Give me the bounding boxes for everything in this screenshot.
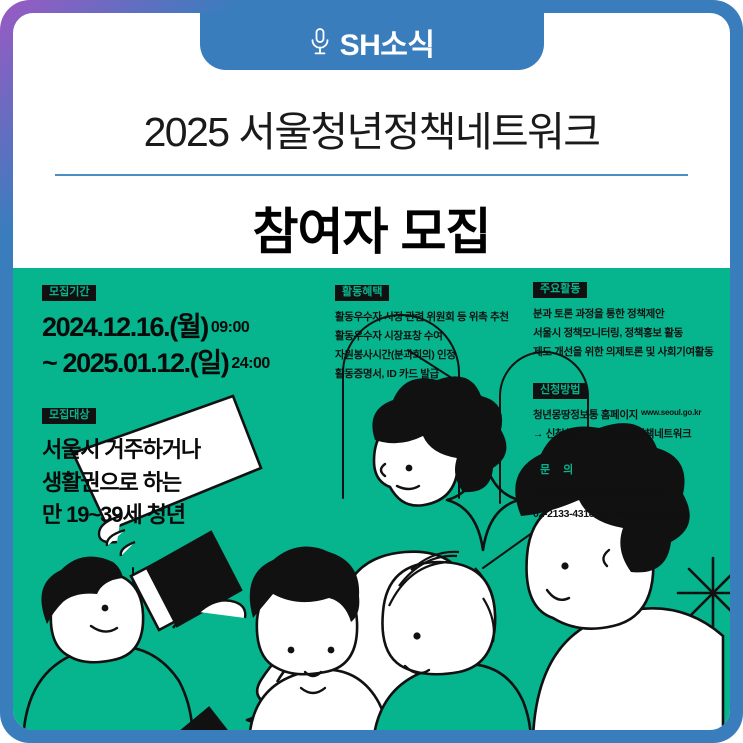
list-item: 자원봉사시간(분과회의) 인정	[335, 346, 525, 365]
apply-path: → 신청하기 → 서울청년정책네트워크	[533, 425, 730, 444]
list-item: 분과 토론 과정을 통한 정책제안	[533, 305, 730, 324]
header-tab: SH소식	[200, 13, 544, 70]
apply-list: 청년몽땅정보통 홈페이지www.seoul.go.kr → 신청하기 → 서울청…	[533, 406, 730, 444]
headline-area: 2025 서울청년정책네트워크 참여자 모집	[13, 70, 730, 268]
recruit-start-date: 2024.12.16.(월)	[42, 312, 208, 342]
microphone-icon	[309, 27, 331, 57]
title-divider	[55, 174, 688, 176]
badge-recruit-period: 모집기간	[42, 285, 96, 301]
content-panel: 모집기간 2024.12.16.(월)09:00 ~ 2025.01.12.(일…	[13, 268, 730, 730]
page-subtitle: 참여자 모집	[253, 192, 491, 264]
benefits-list: 활동우수자 시정 관련 위원회 등 위촉 추천 활동우수자 시장표창 수여 자원…	[335, 308, 525, 384]
recruit-start-line: 2024.12.16.(월)09:00	[42, 310, 342, 346]
target-line: 만 19~39세 청년	[42, 499, 342, 532]
recruit-period-dates: 2024.12.16.(월)09:00 ~ 2025.01.12.(일)24:0…	[42, 310, 342, 381]
tab-title: SH소식	[340, 20, 435, 64]
poster-frame: SH소식 2025 서울청년정책네트워크 참여자 모집	[0, 0, 743, 743]
apply-site-row: 청년몽땅정보통 홈페이지www.seoul.go.kr	[533, 406, 730, 425]
list-item: 서울시 정책모니터링, 정책홍보 활동	[533, 324, 730, 343]
recruit-start-time: 09:00	[211, 319, 249, 336]
contact-phone-email: 02-2133-4318 estella@seoul.go.kr	[533, 505, 730, 524]
target-lines: 서울시 거주하거나 생활권으로 하는 만 19~39세 청년	[42, 434, 342, 532]
target-line: 서울시 거주하거나	[42, 434, 342, 467]
contact-list: 미래청년기획관 청년정책담당관 02-2133-4318 estella@seo…	[533, 486, 730, 524]
badge-apply-method: 신청방법	[533, 383, 587, 399]
badge-contact: 문 의	[533, 463, 581, 479]
badge-benefits: 활동혜택	[335, 285, 389, 301]
apply-site-label: 청년몽땅정보통 홈페이지	[533, 409, 638, 421]
badge-target: 모집대상	[42, 408, 96, 424]
poster-inner: SH소식 2025 서울청년정책네트워크 참여자 모집	[13, 13, 730, 730]
activities-list: 분과 토론 과정을 통한 정책제안 서울시 정책모니터링, 정책홍보 활동 제도…	[533, 305, 730, 362]
contact-department: 미래청년기획관 청년정책담당관	[533, 486, 730, 505]
column-left: 모집기간 2024.12.16.(월)09:00 ~ 2025.01.12.(일…	[42, 282, 342, 532]
figure-left	[23, 532, 245, 730]
list-item: 제도 개선을 위한 의제토론 및 사회기여활동	[533, 343, 730, 362]
list-item: 활동우수자 시정 관련 위원회 등 위촉 추천	[335, 308, 525, 327]
target-line: 생활권으로 하는	[42, 467, 342, 500]
column-benefits: 활동혜택 활동우수자 시정 관련 위원회 등 위촉 추천 활동우수자 시장표창 …	[335, 282, 525, 384]
column-right: 주요활동 분과 토론 과정을 통한 정책제안 서울시 정책모니터링, 정책홍보 …	[533, 279, 730, 524]
recruit-end-date: ~ 2025.01.12.(일)	[42, 348, 228, 378]
page-title: 2025 서울청년정책네트워크	[144, 98, 600, 158]
list-item: 활동우수자 시장표창 수여	[335, 327, 525, 346]
list-item: 활동증명서, ID 카드 발급	[335, 365, 525, 384]
recruit-end-line: ~ 2025.01.12.(일)24:00	[42, 346, 342, 382]
recruit-end-time: 24:00	[231, 355, 269, 372]
apply-site-url[interactable]: www.seoul.go.kr	[641, 408, 701, 417]
figure-blonde	[373, 552, 531, 730]
badge-activities: 주요활동	[533, 282, 587, 298]
